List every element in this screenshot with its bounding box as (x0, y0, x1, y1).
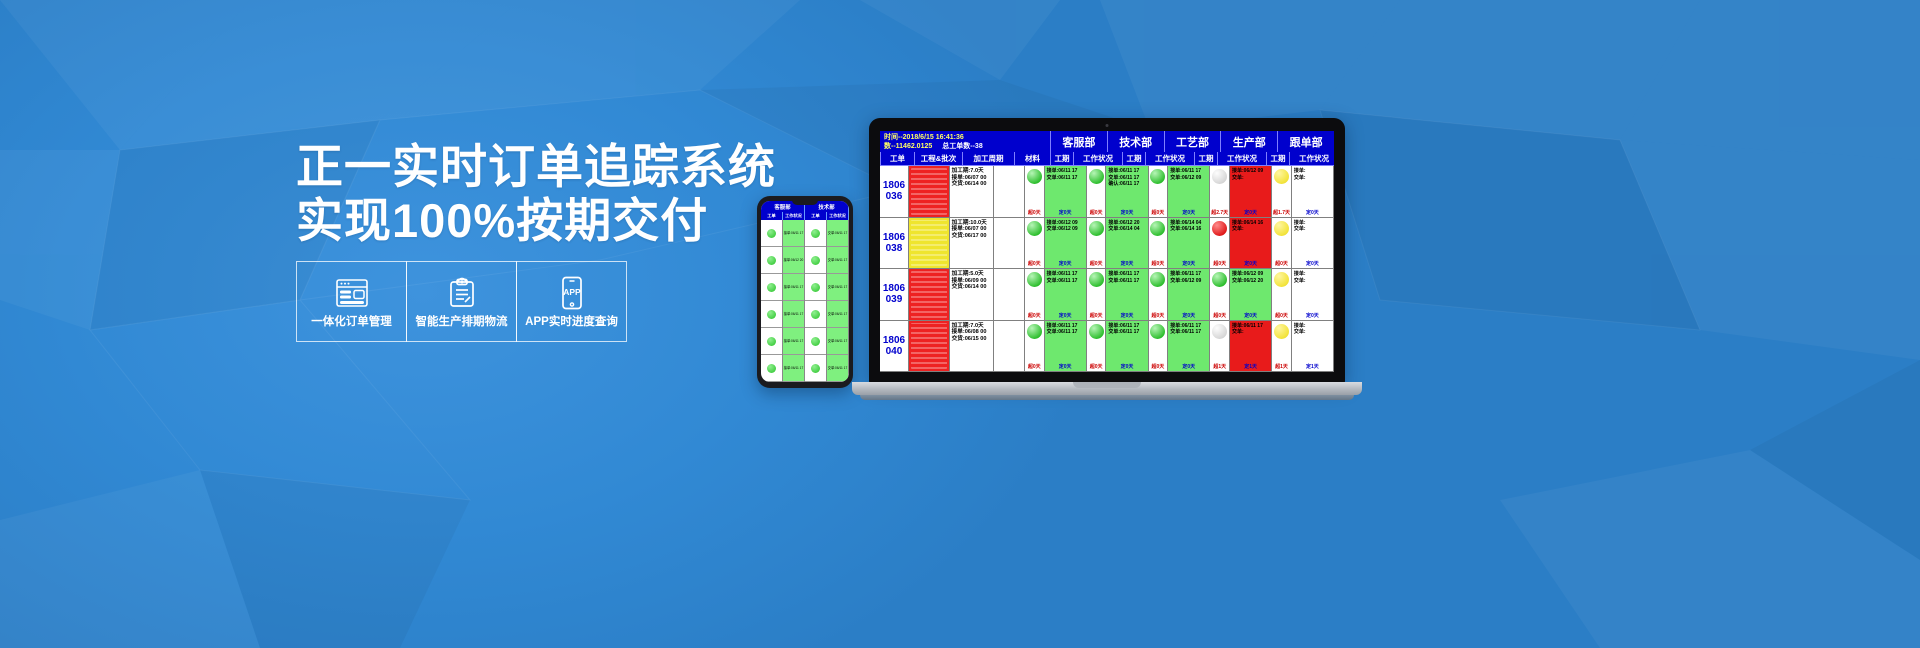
phone-status-dot-cell (805, 247, 826, 274)
work-status-cell: 接单:06/11 17交单:06/12 09定0天 (1168, 269, 1210, 320)
phone-status-cell: 交单:06/11 17 (827, 328, 848, 355)
duration-cell: 超2.7天 (1210, 166, 1230, 217)
table-row[interactable]: 1806038加工期:10.0天接单:06/07 00交货:06/17 00超0… (880, 218, 1334, 270)
status-line: 交单:06/11 17 (1170, 329, 1207, 336)
phone-status-cell: 交单:06/11 17 (827, 220, 848, 247)
phone-status-dot-cell (761, 274, 782, 301)
work-status-cell: 接单:06/11 17交单:06/11 17定0天 (1168, 321, 1210, 372)
status-dot-yellow (1274, 324, 1289, 339)
phone-status-text: 接单:06/11 17 (784, 366, 803, 370)
phone-status-text: 交单:06/11 17 (828, 312, 847, 316)
phone-status-text: 接单:06/11 17 (784, 285, 803, 289)
duration-cell: 超0天 (1149, 166, 1169, 217)
duration-cell: 超0天 (1149, 321, 1169, 372)
status-footer-label: 定0天 (1170, 261, 1207, 267)
project-batch-cell (909, 269, 950, 320)
work-status-cell: 接单:06/11 17交单:06/11 17确认:06/11 17定0天 (1106, 166, 1148, 217)
work-order-cell: 1806036 (880, 166, 909, 217)
phone-status-text: 接单:06/11 17 (784, 231, 803, 235)
feature-card-production-scheduling[interactable]: 智能生产排期物流 (406, 261, 517, 342)
work-status-cell: 接单:06/11 17交单:06/11 17定0天 (1045, 166, 1087, 217)
feature-label: APP实时进度查询 (525, 316, 618, 329)
phone-subcolumn: 工作状况 (827, 212, 849, 220)
status-line: 交单:06/12 09 (1170, 175, 1207, 182)
duration-label: 超0天 (1275, 313, 1288, 319)
duration-label: 超0天 (1152, 210, 1165, 216)
column-header-status[interactable]: 工作状况 (1073, 152, 1122, 166)
phone-status-cell: 接单:06/11 17 (783, 301, 804, 328)
status-dot-green (1027, 169, 1042, 184)
status-footer-label: 定0天 (1294, 261, 1331, 267)
work-order-cell: 1806038 (880, 218, 909, 269)
column-header-status[interactable]: 工作状况 (1289, 152, 1334, 166)
duration-cell: 超0天 (1149, 218, 1169, 269)
feature-list: 一体化订单管理 智能生产排期物流 (296, 261, 626, 342)
status-dot-green (767, 310, 776, 319)
processing-cycle-cell: 加工期:5.0天接单:06/09 00交货:06/14 00 (950, 269, 995, 320)
phone-status-cell: 接单:06/11 17 (783, 328, 804, 355)
duration-cell: 超1.7天 (1272, 166, 1292, 217)
work-order-cell: 1806039 (880, 269, 909, 320)
work-order-cell: 1806040 (880, 321, 909, 372)
cycle-line: 交货:06/14 00 (952, 284, 992, 291)
status-line: 确认:06/11 17 (1108, 181, 1145, 188)
work-status-cell: 接单:交单:定0天 (1292, 269, 1334, 320)
phone-status-cell: 接单:06/11 17 (783, 355, 804, 382)
dashboard-screen: 时间--2018/6/15 16:41:36 数--11462.0125 总工单… (880, 131, 1334, 372)
status-line: 交单:06/14 04 (1108, 226, 1145, 233)
status-dot-white (1212, 169, 1227, 184)
dashboard-count: 数--11462.0125 (884, 142, 932, 151)
cycle-line: 接单:06/08 00 (952, 329, 992, 336)
cycle-line: 接单:06/07 00 (952, 226, 992, 233)
status-footer-label: 定0天 (1108, 364, 1145, 370)
material-cell (994, 166, 1025, 217)
status-dot-green (811, 229, 820, 238)
status-footer-label: 定0天 (1294, 210, 1331, 216)
duration-cell: 超0天 (1087, 321, 1107, 372)
phone-status-dot-cell (761, 355, 782, 382)
feature-label: 智能生产排期物流 (416, 316, 508, 329)
status-line: 交单:06/11 17 (1047, 175, 1084, 182)
work-status-cell: 接单:06/12 20交单:06/14 04定0天 (1106, 218, 1148, 269)
status-dot-green (1212, 272, 1227, 287)
status-line: 交单:06/12 20 (1232, 278, 1269, 285)
status-line: 交单: (1294, 278, 1331, 285)
duration-cell: 超0天 (1025, 321, 1045, 372)
phone-status-dot-cell (761, 328, 782, 355)
column-header-status[interactable]: 工作状况 (1145, 152, 1194, 166)
status-line: 交单: (1294, 226, 1331, 233)
phone-mockup: 客服部 技术部 工单 工作状况 工单 工作状况 接单:06 (757, 196, 853, 388)
status-dot-green (767, 283, 776, 292)
work-status-cell: 接单:06/11 17交单:06/12 09定0天 (1168, 166, 1210, 217)
work-status-cell: 接单:06/11 17交单:06/11 17定0天 (1106, 321, 1148, 372)
phone-status-text: 接单:06/12 20 (784, 258, 804, 262)
phone-status-text: 接单:06/11 17 (784, 339, 803, 343)
work-status-cell: 接单:06/11 17交单:06/11 17定0天 (1045, 269, 1087, 320)
work-status-cell: 接单:交单:定0天 (1292, 218, 1334, 269)
cycle-line: 交货:06/14 00 (952, 181, 992, 188)
status-line: 交单:06/12 09 (1170, 278, 1207, 285)
duration-cell: 超0天 (1025, 269, 1045, 320)
column-header-workorder[interactable]: 工单 (880, 152, 914, 166)
mobile-phone-icon: APP (560, 274, 584, 312)
duration-label: 超0天 (1090, 313, 1103, 319)
status-line: 交单:06/11 17 (1047, 278, 1084, 285)
phone-status-text: 交单:06/11 17 (828, 285, 847, 289)
laptop-mockup: 时间--2018/6/15 16:41:36 数--11462.0125 总工单… (852, 118, 1362, 418)
status-footer-label: 定0天 (1232, 313, 1269, 319)
laptop-lid: 时间--2018/6/15 16:41:36 数--11462.0125 总工单… (869, 118, 1345, 384)
material-cell (994, 321, 1025, 372)
status-dot-green (1089, 169, 1104, 184)
phone-status-cell: 接单:06/11 17 (783, 220, 804, 247)
work-status-cell: 接单:06/11 17交单:定1天 (1230, 321, 1272, 372)
processing-cycle-cell: 加工期:7.0天接单:06/08 00交货:06/15 00 (950, 321, 995, 372)
duration-label: 超0天 (1090, 364, 1103, 370)
status-dot-green (767, 364, 776, 373)
column-header-status[interactable]: 工作状况 (1217, 152, 1266, 166)
phone-status-cell: 交单:06/11 17 (827, 301, 848, 328)
headline-line-1: 正一实时订单追踪系统 (296, 140, 776, 193)
dashboard-info: 时间--2018/6/15 16:41:36 数--11462.0125 总工单… (880, 131, 1050, 152)
phone-status-text: 交单:06/11 17 (828, 339, 847, 343)
redacted-text (911, 220, 947, 267)
department-header: 客服部 (1050, 131, 1107, 152)
dashboard-header: 时间--2018/6/15 16:41:36 数--11462.0125 总工单… (880, 131, 1334, 152)
column-header-duration[interactable]: 工期 (1122, 152, 1145, 166)
duration-label: 超0天 (1213, 261, 1226, 267)
duration-cell: 超0天 (1210, 269, 1230, 320)
status-footer-label: 定0天 (1170, 364, 1207, 370)
phone-status-dot-cell (805, 301, 826, 328)
dashboard-table-body: 1806036加工期:7.0天接单:06/07 00交货:06/14 00超0天… (880, 166, 1334, 372)
status-footer-label: 定0天 (1047, 313, 1084, 319)
dashboard-total: 总工单数--38 (942, 142, 982, 151)
phone-column-duration (761, 220, 783, 382)
status-dot-green (811, 364, 820, 373)
duration-label: 超0天 (1090, 210, 1103, 216)
status-dot-green (1089, 324, 1104, 339)
duration-label: 超0天 (1028, 261, 1041, 267)
cycle-line: 加工期:5.0天 (952, 271, 992, 278)
work-status-cell: 接单:交单:定0天 (1292, 166, 1334, 217)
status-dot-green (1089, 272, 1104, 287)
status-dot-green (1027, 272, 1042, 287)
status-line: 交单:06/11 17 (1047, 329, 1084, 336)
dashboard-time: 时间--2018/6/15 16:41:36 (884, 133, 1047, 142)
column-header-project[interactable]: 工程&批次 (914, 152, 962, 166)
status-dot-yellow (1274, 272, 1289, 287)
work-status-cell: 接单:06/14 16交单:定0天 (1230, 218, 1272, 269)
status-line: 交单: (1232, 329, 1269, 336)
duration-label: 超0天 (1090, 261, 1103, 267)
promo-banner: 正一实时订单追踪系统 实现100%按期交付 一体化订单管理 (0, 0, 1920, 648)
work-status-cell: 接单:交单:定1天 (1292, 321, 1334, 372)
status-footer-label: 定0天 (1170, 313, 1207, 319)
phone-status-cell: 接单:06/12 20 (783, 247, 804, 274)
status-dot-green (811, 337, 820, 346)
duration-cell: 超0天 (1272, 269, 1292, 320)
department-header: 生产部 (1220, 131, 1277, 152)
phone-status-dot-cell (805, 355, 826, 382)
status-footer-label: 定0天 (1232, 210, 1269, 216)
status-dot-green (1027, 221, 1042, 236)
status-dot-red (1212, 221, 1227, 236)
phone-status-cell: 交单:06/11 17 (827, 247, 848, 274)
phone-column-duration-2 (805, 220, 827, 382)
svg-text:APP: APP (563, 287, 581, 297)
duration-label: 超1.7天 (1273, 210, 1290, 216)
status-dot-green (1150, 324, 1165, 339)
status-dot-green (1150, 272, 1165, 287)
duration-label: 超0天 (1152, 261, 1165, 267)
laptop-foot (860, 395, 1354, 400)
column-header-duration[interactable]: 工期 (1050, 152, 1073, 166)
status-footer-label: 定0天 (1108, 261, 1145, 267)
phone-screen: 客服部 技术部 工单 工作状况 工单 工作状况 接单:06 (761, 201, 849, 382)
duration-cell: 超1天 (1210, 321, 1230, 372)
phone-subcolumn: 工单 (805, 212, 827, 220)
duration-cell: 超0天 (1087, 269, 1107, 320)
phone-status-text: 交单:06/11 17 (828, 258, 847, 262)
browser-window-icon (335, 274, 369, 312)
material-cell (994, 269, 1025, 320)
phone-status-text: 接单:06/11 17 (784, 312, 803, 316)
column-header-duration[interactable]: 工期 (1194, 152, 1217, 166)
status-dot-green (811, 310, 820, 319)
redacted-text (911, 168, 947, 215)
redacted-text (911, 271, 947, 318)
phone-status-cell: 接单:06/11 17 (783, 274, 804, 301)
work-status-cell: 接单:06/11 17交单:06/11 17定0天 (1045, 321, 1087, 372)
department-header: 技术部 (1107, 131, 1164, 152)
duration-label: 超0天 (1028, 364, 1041, 370)
work-status-cell: 接单:06/11 17交单:06/11 17定0天 (1106, 269, 1148, 320)
processing-cycle-cell: 加工期:10.0天接单:06/07 00交货:06/17 00 (950, 218, 995, 269)
phone-table-body: 接单:06/11 17 接单:06/12 20 接单:06/11 17 接单:0… (761, 220, 849, 382)
status-line: 交单:06/12 09 (1047, 226, 1084, 233)
table-row[interactable]: 1806039加工期:5.0天接单:06/09 00交货:06/14 00超0天… (880, 269, 1334, 321)
duration-cell: 超0天 (1087, 218, 1107, 269)
phone-status-dot-cell (805, 274, 826, 301)
column-header-material[interactable]: 材料 (1014, 152, 1050, 166)
duration-label: 超1天 (1213, 364, 1226, 370)
status-footer-label: 定0天 (1294, 313, 1331, 319)
laptop-base (852, 382, 1362, 395)
status-dot-yellow (1274, 169, 1289, 184)
phone-column-status-2: 交单:06/11 17 交单:06/11 17 交单:06/11 17 交单:0… (827, 220, 849, 382)
status-dot-yellow (1274, 221, 1289, 236)
phone-status-dot-cell (805, 328, 826, 355)
redacted-text (911, 323, 947, 370)
status-line: 交单:06/11 17 (1108, 278, 1145, 285)
phone-status-cell: 交单:06/11 17 (827, 274, 848, 301)
status-line: 交单: (1232, 226, 1269, 233)
status-footer-label: 定0天 (1047, 210, 1084, 216)
duration-label: 超2.7天 (1211, 210, 1228, 216)
status-dot-green (1150, 221, 1165, 236)
project-batch-cell (909, 166, 950, 217)
department-header: 跟单部 (1277, 131, 1334, 152)
work-status-cell: 接单:06/12 09交单:定0天 (1230, 166, 1272, 217)
phone-status-text: 交单:06/11 17 (828, 366, 847, 370)
cycle-line: 交货:06/15 00 (952, 336, 992, 343)
column-header-duration[interactable]: 工期 (1266, 152, 1289, 166)
phone-subcolumn: 工单 (761, 212, 783, 220)
status-footer-label: 定0天 (1047, 364, 1084, 370)
table-row[interactable]: 1806036加工期:7.0天接单:06/07 00交货:06/14 00超0天… (880, 166, 1334, 218)
work-status-cell: 接单:06/12 09交单:06/12 20定0天 (1230, 269, 1272, 320)
project-batch-cell (909, 218, 950, 269)
status-dot-green (1027, 324, 1042, 339)
status-footer-label: 定1天 (1232, 364, 1269, 370)
phone-column-status: 接单:06/11 17 接单:06/12 20 接单:06/11 17 接单:0… (783, 220, 805, 382)
phone-subcolumn: 工作状况 (783, 212, 805, 220)
status-footer-label: 定0天 (1108, 210, 1145, 216)
status-dot-green (811, 283, 820, 292)
work-status-cell: 接单:06/14 04交单:06/14 16定0天 (1168, 218, 1210, 269)
duration-label: 超0天 (1275, 261, 1288, 267)
phone-status-dot-cell (761, 247, 782, 274)
status-dot-green (767, 256, 776, 265)
phone-notch (792, 200, 818, 205)
duration-label: 超1天 (1275, 364, 1288, 370)
duration-label: 超0天 (1028, 210, 1041, 216)
status-line: 交单:06/11 17 (1108, 329, 1145, 336)
status-line: 交单: (1232, 175, 1269, 182)
table-row[interactable]: 1806040加工期:7.0天接单:06/08 00交货:06/15 00超0天… (880, 321, 1334, 373)
cycle-line: 交货:06/17 00 (952, 233, 992, 240)
status-footer-label: 定1天 (1294, 364, 1331, 370)
laptop-base-notch (1073, 382, 1141, 388)
status-footer-label: 定0天 (1108, 313, 1145, 319)
duration-label: 超0天 (1028, 313, 1041, 319)
phone-status-dot-cell (805, 220, 826, 247)
duration-cell: 超1天 (1272, 321, 1292, 372)
clipboard-icon (446, 274, 478, 312)
feature-card-order-management[interactable]: 一体化订单管理 (296, 261, 407, 342)
status-footer-label: 定0天 (1047, 261, 1084, 267)
phone-status-dot-cell (761, 301, 782, 328)
column-header-row: 工单 工程&批次 加工周期 材料 工期 工作状况 工期 工作状况 工期 工作状况… (880, 152, 1334, 166)
duration-cell: 超0天 (1149, 269, 1169, 320)
duration-label: 超0天 (1152, 313, 1165, 319)
status-dot-white (1212, 324, 1227, 339)
duration-cell: 超0天 (1087, 166, 1107, 217)
status-line: 交单: (1294, 329, 1331, 336)
work-status-cell: 接单:06/12 09交单:06/12 09定0天 (1045, 218, 1087, 269)
status-line: 交单:06/14 16 (1170, 226, 1207, 233)
phone-status-dot-cell (761, 220, 782, 247)
duration-cell: 超0天 (1025, 218, 1045, 269)
processing-cycle-cell: 加工期:7.0天接单:06/07 00交货:06/14 00 (950, 166, 995, 217)
department-header-row: 客服部 技术部 工艺部 生产部 跟单部 (1050, 131, 1334, 152)
status-dot-green (767, 337, 776, 346)
status-dot-green (1150, 169, 1165, 184)
phone-status-text: 交单:06/11 17 (828, 231, 847, 235)
feature-card-app-progress-query[interactable]: APP APP实时进度查询 (516, 261, 627, 342)
cycle-line: 加工期:7.0天 (952, 168, 992, 175)
phone-subheader: 工单 工作状况 工单 工作状况 (761, 212, 849, 220)
material-cell (994, 218, 1025, 269)
department-header: 工艺部 (1164, 131, 1221, 152)
duration-cell: 超0天 (1210, 218, 1230, 269)
status-footer-label: 定0天 (1170, 210, 1207, 216)
status-dot-green (1089, 221, 1104, 236)
status-dot-green (811, 256, 820, 265)
status-footer-label: 定0天 (1232, 261, 1269, 267)
feature-label: 一体化订单管理 (311, 316, 392, 329)
duration-cell: 超0天 (1272, 218, 1292, 269)
status-dot-green (767, 229, 776, 238)
column-header-cycle[interactable]: 加工周期 (962, 152, 1014, 166)
status-line: 交单: (1294, 175, 1331, 182)
duration-cell: 超0天 (1025, 166, 1045, 217)
phone-status-cell: 交单:06/11 17 (827, 355, 848, 382)
webcam-icon (1106, 124, 1109, 127)
duration-label: 超0天 (1213, 313, 1226, 319)
duration-label: 超0天 (1152, 364, 1165, 370)
project-batch-cell (909, 321, 950, 372)
